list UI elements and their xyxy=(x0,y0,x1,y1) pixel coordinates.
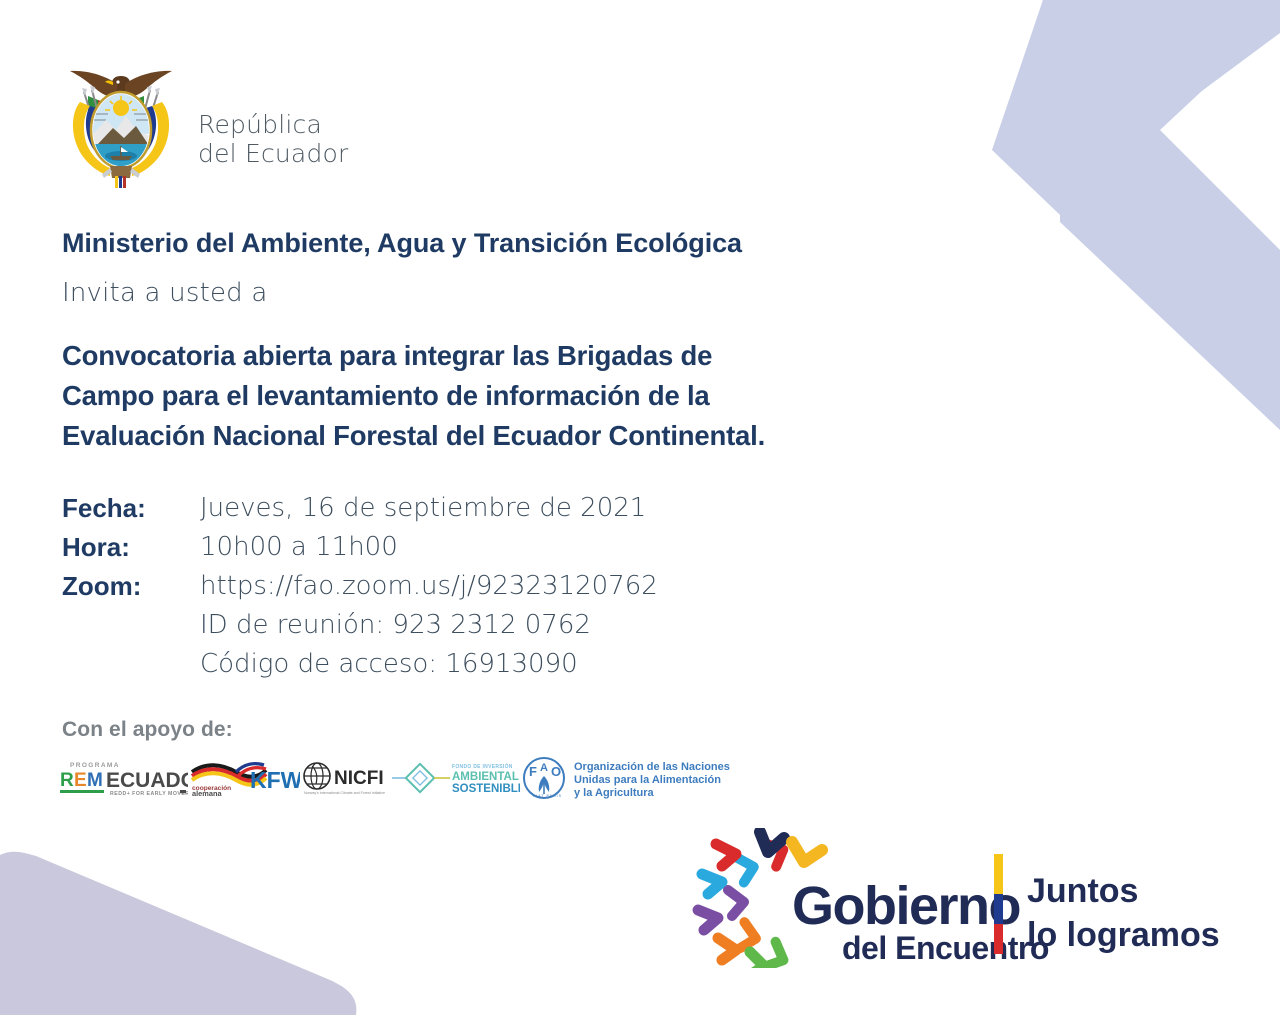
fias-logo: FONDO DE INVERSIÓN AMBIENTAL SOSTENIBLE xyxy=(392,754,520,802)
ecuador-coat-of-arms-icon xyxy=(58,58,184,190)
flag-bar-red xyxy=(994,924,1003,954)
fao-logo: F A O FIAT PANIS Organización de las Nac… xyxy=(520,752,740,804)
headline-line-2: Campo para el levantamiento de informaci… xyxy=(62,376,1022,416)
gobierno-word-sub: del Encuentro xyxy=(842,930,1049,966)
svg-text:Unidas para la Alimentación: Unidas para la Alimentación xyxy=(574,774,721,786)
support-logo-row: PROGRAMA R E M ECUADOR REDD+ FOR EARLY M… xyxy=(56,752,740,804)
fecha-value: Jueves, 16 de septiembre de 2021 xyxy=(200,489,646,528)
svg-text:F: F xyxy=(529,764,537,779)
gobierno-logo-svg: Gobierno del Encuentro Juntos lo logramo… xyxy=(672,828,1242,968)
headline: Convocatoria abierta para integrar las B… xyxy=(62,336,1022,456)
kfw-logo: cooperación alemana KFW xyxy=(188,756,300,800)
chevron-decor-top-right-body xyxy=(992,0,1280,425)
svg-text:alemana: alemana xyxy=(192,789,222,798)
svg-text:NICFI: NICFI xyxy=(334,768,384,789)
svg-text:E: E xyxy=(74,770,87,791)
gobierno-del-encuentro-lockup: Gobierno del Encuentro Juntos lo logramo… xyxy=(672,828,1242,973)
band-decor-bottom-left xyxy=(0,852,356,1015)
slogan-line-1: Juntos xyxy=(1027,872,1138,910)
svg-text:O: O xyxy=(551,764,561,779)
gobierno-word-main: Gobierno xyxy=(792,876,1020,936)
chevron-decor-top-right xyxy=(1043,0,1280,430)
svg-text:R: R xyxy=(60,770,74,791)
svg-text:FIAT PANIS: FIAT PANIS xyxy=(533,794,562,798)
svg-text:Organización de las Naciones: Organización de las Naciones xyxy=(574,761,730,773)
support-label: Con el apoyo de: xyxy=(62,718,233,742)
detail-row-zoom: Zoom: https://fao.zoom.us/j/92323120762 … xyxy=(62,567,658,684)
svg-text:AMBIENTAL: AMBIENTAL xyxy=(452,771,519,783)
svg-text:SOSTENIBLE: SOSTENIBLE xyxy=(452,783,520,795)
svg-text:Norway's International Climate: Norway's International Climate and Fores… xyxy=(304,791,385,795)
detail-row-fecha: Fecha: Jueves, 16 de septiembre de 2021 xyxy=(62,489,658,528)
crest-block: República del Ecuador xyxy=(58,58,349,190)
hora-value: 10h00 a 11h00 xyxy=(200,528,398,567)
hora-label: Hora: xyxy=(62,528,200,567)
headline-line-3: Evaluación Nacional Forestal del Ecuador… xyxy=(62,416,1022,456)
slogan-line-2: lo logramos xyxy=(1027,916,1220,954)
flag-bar-blue xyxy=(994,894,1003,924)
crest-title: República del Ecuador xyxy=(198,80,349,169)
zoom-value[interactable]: https://fao.zoom.us/j/92323120762 ID de … xyxy=(200,567,658,684)
svg-text:KFW: KFW xyxy=(250,767,300,793)
ministry-title: Ministerio del Ambiente, Agua y Transici… xyxy=(62,228,742,259)
svg-text:PROGRAMA: PROGRAMA xyxy=(70,762,120,769)
svg-text:REDD+ FOR EARLY MOVERS: REDD+ FOR EARLY MOVERS xyxy=(110,791,188,797)
invite-line: Invita a usted a xyxy=(62,278,267,308)
svg-text:ECUADOR: ECUADOR xyxy=(106,769,188,792)
headline-line-1: Convocatoria abierta para integrar las B… xyxy=(62,336,1022,376)
fecha-label: Fecha: xyxy=(62,489,200,528)
svg-text:M: M xyxy=(87,770,103,791)
chevron-decor-top-right-fill xyxy=(995,0,1280,424)
detail-row-hora: Hora: 10h00 a 11h00 xyxy=(62,528,658,567)
flag-bar-yellow xyxy=(994,854,1003,894)
nicfi-logo: NICFI Norway's International Climate and… xyxy=(300,756,392,800)
svg-text:y la Agricultura: y la Agricultura xyxy=(574,787,655,799)
zoom-label: Zoom: xyxy=(62,567,200,606)
flyer-page: República del Ecuador Ministerio del Amb… xyxy=(0,0,1280,1015)
svg-text:FONDO DE INVERSIÓN: FONDO DE INVERSIÓN xyxy=(452,762,513,770)
svg-text:A: A xyxy=(540,762,548,774)
event-details: Fecha: Jueves, 16 de septiembre de 2021 … xyxy=(62,489,658,684)
rem-ecuador-logo: PROGRAMA R E M ECUADOR REDD+ FOR EARLY M… xyxy=(56,756,188,800)
